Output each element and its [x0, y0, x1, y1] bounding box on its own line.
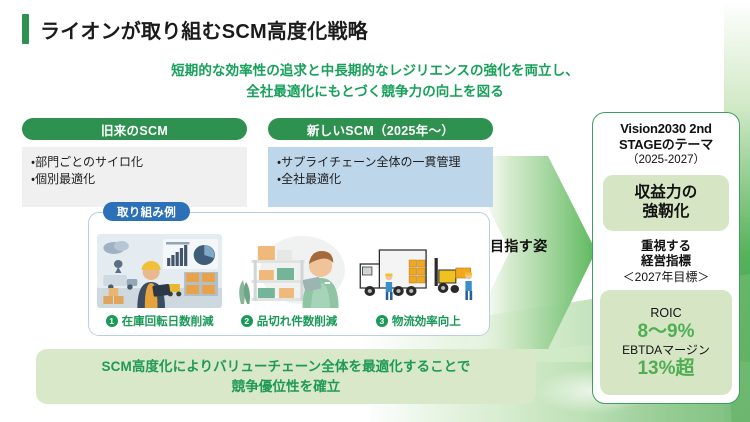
scm-old-column: 旧来のSCM ・部門ごとのサイロ化 ・個別最適化 [22, 118, 247, 207]
example-number-2: 2 [241, 315, 253, 327]
subtitle-line-2: 全社最適化にもとづく競争力の向上を図る [0, 82, 750, 103]
vision-title-line-1: Vision2030 2nd [619, 121, 713, 137]
scm-new-bullet-2: ・全社最適化 [277, 171, 484, 188]
examples-card: 取り組み例 [88, 212, 490, 336]
scm-new-heading: 新しいSCM（2025年〜） [268, 118, 493, 140]
example-label-2: 品切れ件数削減 [257, 313, 338, 329]
scm-old-heading: 旧来のSCM [22, 118, 247, 140]
vision-kpi-box: ROIC 8〜9% EBTDAマージン 13%超 [600, 290, 732, 395]
arrow-label: 目指す姿 [490, 236, 548, 256]
kpi-2-value: 13%超 [637, 358, 694, 379]
example-item-1: 1 在庫回転日数削減 [97, 234, 222, 329]
vision-title-line-2: STAGEのテーマ [619, 137, 713, 153]
kpi-1-name: ROIC [650, 306, 681, 321]
title-text: ライオンが取り組むSCM高度化戦略 [40, 15, 368, 44]
example-item-2: 2 品切れ件数削減 [226, 234, 351, 329]
vision-kpi-title: 重視する 経営指標 [641, 239, 691, 270]
scm-old-bullet-2: ・個別最適化 [31, 171, 238, 188]
examples-list: 1 在庫回転日数削減 [89, 213, 489, 335]
example-item-3: 3 物流効率向上 [356, 234, 481, 329]
vision-period: （2025-2027） [627, 153, 705, 167]
stock-check-illustration [226, 234, 351, 308]
subtitle: 短期的な効率性の追求と中長期的なレジリエンスの強化を両立し、 全社最適化にもとづ… [0, 61, 750, 103]
example-caption-2: 2 品切れ件数削減 [241, 313, 338, 329]
scm-new-body: ・サプライチェーン全体の一貫管理 ・全社最適化 [268, 147, 493, 207]
scm-new-column: 新しいSCM（2025年〜） ・サプライチェーン全体の一貫管理 ・全社最適化 [268, 118, 493, 207]
example-number-3: 3 [376, 315, 388, 327]
vision-kpi-title-line-2: 経営指標 [641, 254, 691, 269]
example-label-1: 在庫回転日数削減 [122, 313, 214, 329]
vision-theme-line-2: 強靭化 [642, 203, 689, 222]
slide-root: ライオンが取り組むSCM高度化戦略 短期的な効率性の追求と中長期的なレジリエンス… [0, 0, 750, 422]
kpi-1-value: 8〜9% [637, 321, 694, 342]
summary-banner: SCM高度化によりバリューチェーン全体を最適化することで 競争優位性を確立 [36, 349, 536, 404]
banner-line-2: 競争優位性を確立 [232, 377, 341, 396]
scm-old-bullet-1: ・部門ごとのサイロ化 [31, 154, 238, 171]
vision-title: Vision2030 2nd STAGEのテーマ [619, 121, 713, 152]
warehouse-analytics-illustration [97, 234, 222, 308]
vision-panel: Vision2030 2nd STAGEのテーマ （2025-2027） 収益力… [592, 112, 740, 404]
page-title: ライオンが取り組むSCM高度化戦略 [22, 14, 368, 44]
truck-loading-illustration [356, 234, 481, 308]
vision-kpi-title-line-1: 重視する [641, 239, 691, 254]
kpi-2-name: EBTDAマージン [622, 343, 710, 357]
subtitle-line-1: 短期的な効率性の追求と中長期的なレジリエンスの強化を両立し、 [0, 61, 750, 82]
scm-new-bullet-1: ・サプライチェーン全体の一貫管理 [277, 154, 484, 171]
vision-theme-box: 収益力の 強靭化 [603, 175, 729, 231]
title-accent-bar [22, 14, 29, 44]
banner-line-1: SCM高度化によりバリューチェーン全体を最適化することで [102, 357, 471, 376]
example-caption-1: 1 在庫回転日数削減 [106, 313, 214, 329]
examples-badge: 取り組み例 [103, 202, 190, 221]
example-number-1: 1 [106, 315, 118, 327]
vision-kpi-target: ＜2027年目標＞ [623, 270, 710, 285]
vision-theme-line-1: 収益力の [635, 184, 698, 203]
scm-old-body: ・部門ごとのサイロ化 ・個別最適化 [22, 147, 247, 207]
example-label-3: 物流効率向上 [392, 313, 461, 329]
example-caption-3: 3 物流効率向上 [376, 313, 461, 329]
